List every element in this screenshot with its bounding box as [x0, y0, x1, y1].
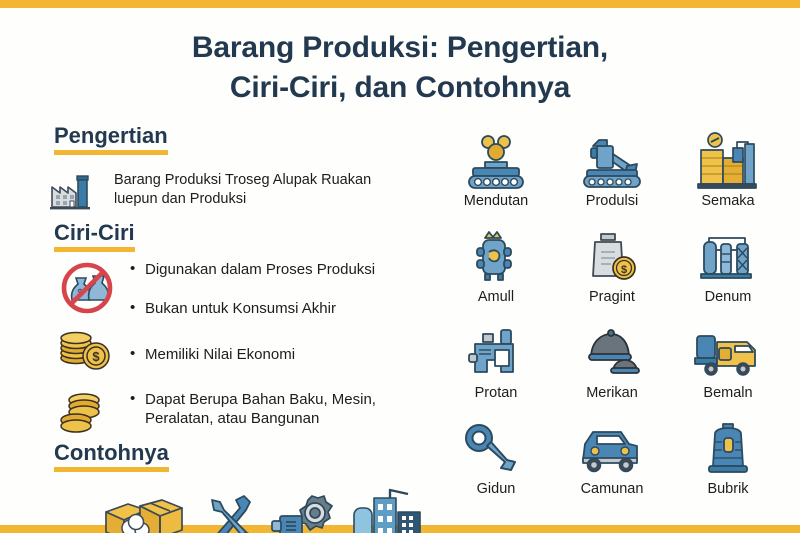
title-line-2: Ciri-Ciri, dan Contohnya: [0, 68, 800, 108]
crowned-machine-icon: [461, 228, 531, 286]
top-accent-bar: [0, 0, 800, 8]
grid-item-label: Camunan: [581, 482, 644, 497]
factory-stacks-icon: [693, 132, 763, 190]
section-pengertian: Pengertian Bara: [48, 124, 420, 211]
excavator-machine-icon: [577, 132, 647, 190]
wrench-screwdriver-icon: [200, 490, 262, 533]
coin-stack-dollar-icon: $: [56, 324, 122, 376]
blue-truck-icon: [575, 420, 649, 478]
pipes-tank-icon: [693, 228, 763, 286]
grid-item[interactable]: Produlsi: [556, 132, 668, 228]
ciri-ciri-bullet-list: Digunakan dalam Proses Produksi Bukan un…: [130, 260, 420, 428]
dark-tanks-icon: [577, 324, 647, 382]
grid-item[interactable]: Camunan: [556, 420, 668, 516]
buildings-icon: [346, 486, 432, 533]
grid-item[interactable]: Merikan: [556, 324, 668, 420]
contohnya-icon-row: [98, 486, 420, 533]
grid-item[interactable]: Amull: [440, 228, 552, 324]
section-contohnya: Contohnya: [48, 441, 420, 533]
gear-machine-icon: [268, 488, 340, 533]
grid-item[interactable]: Protan: [440, 324, 552, 420]
grid-item[interactable]: Bemaln: [672, 324, 784, 420]
grid-item: Semaka: [672, 132, 784, 228]
factory-icon: [48, 167, 104, 211]
ciri-ciri-icon-column: $: [56, 260, 122, 442]
silo-tank-icon: [693, 420, 763, 478]
grid-item-label: Amull: [478, 290, 514, 305]
contohnya-heading: Contohnya: [54, 441, 169, 472]
pengertian-heading: Pengertian: [54, 124, 168, 155]
list-item: Digunakan dalam Proses Produksi: [130, 260, 420, 279]
yellow-truck-icon: [691, 324, 765, 382]
grid-item-label: Gidun: [477, 482, 516, 497]
grid-item-label: Bemaln: [703, 386, 752, 401]
grid-item[interactable]: Denum: [672, 228, 784, 324]
svg-text:$: $: [92, 349, 100, 364]
grid-item-label: Merikan: [586, 386, 638, 401]
grid-item-label: Semaka: [701, 194, 754, 209]
list-item: Memiliki Nilai Ekonomi: [130, 345, 420, 364]
grid-item-label: Denum: [705, 290, 752, 305]
grid-item-label: Pragint: [589, 290, 635, 305]
grid-item-label: Bubrik: [707, 482, 748, 497]
svg-text:$: $: [621, 264, 627, 276]
conveyor-coins-icon: [461, 132, 531, 190]
list-item: Bukan untuk Konsumsi Akhir: [130, 299, 420, 318]
pengertian-body: Barang Produksi Troseg Alupak Ruakan lue…: [114, 167, 414, 209]
no-money-bags-icon: $: [56, 260, 122, 316]
left-column: Pengertian Bara: [48, 124, 420, 533]
grid-item[interactable]: Gidun: [440, 420, 552, 516]
ciri-ciri-heading: Ciri-Ciri: [54, 221, 135, 252]
grid-item[interactable]: Mendutan: [440, 132, 552, 228]
icon-grid: Mendutan: [440, 132, 784, 516]
title-line-1: Barang Produksi: Pengertian,: [192, 31, 608, 64]
wrench-icon: [461, 420, 531, 478]
page-title: Barang Produksi: Pengertian, Ciri-Ciri, …: [0, 28, 800, 107]
industrial-unit-icon: [461, 324, 531, 382]
grid-item[interactable]: $ Pragint: [556, 228, 668, 324]
section-ciri-ciri: Ciri-Ciri $: [48, 221, 420, 428]
grid-item-label: Protan: [475, 386, 518, 401]
infographic-page: Barang Produksi: Pengertian, Ciri-Ciri, …: [0, 0, 800, 533]
grid-item[interactable]: Bubrik: [672, 420, 784, 516]
coin-pile-icon: [56, 384, 122, 434]
grid-item-label: Produlsi: [586, 194, 638, 209]
container-coin-icon: $: [577, 228, 647, 286]
grid-item-label: Mendutan: [464, 194, 529, 209]
boxes-cotton-icon: [98, 486, 194, 533]
list-item: Dapat Berupa Bahan Baku, Mesin, Peralata…: [130, 390, 420, 428]
